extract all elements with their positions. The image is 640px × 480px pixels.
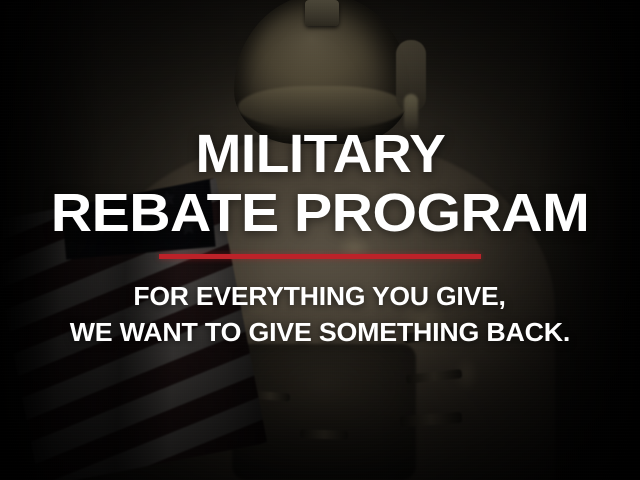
subheadline-line-2: WE WANT TO GIVE SOMETHING BACK. (70, 317, 570, 349)
poster-content: MILITARY REBATE PROGRAM FOR EVERYTHING Y… (0, 0, 640, 480)
headline-line-2: REBATE PROGRAM (51, 187, 589, 240)
subheadline-line-1: FOR EVERYTHING YOU GIVE, (134, 281, 506, 313)
military-rebate-poster: ★ ★ ★ ★ ★ ★ MILITARY REBATE PROGRAM FOR … (0, 0, 640, 480)
red-divider-rule (159, 254, 481, 259)
headline-line-1: MILITARY (195, 128, 445, 181)
